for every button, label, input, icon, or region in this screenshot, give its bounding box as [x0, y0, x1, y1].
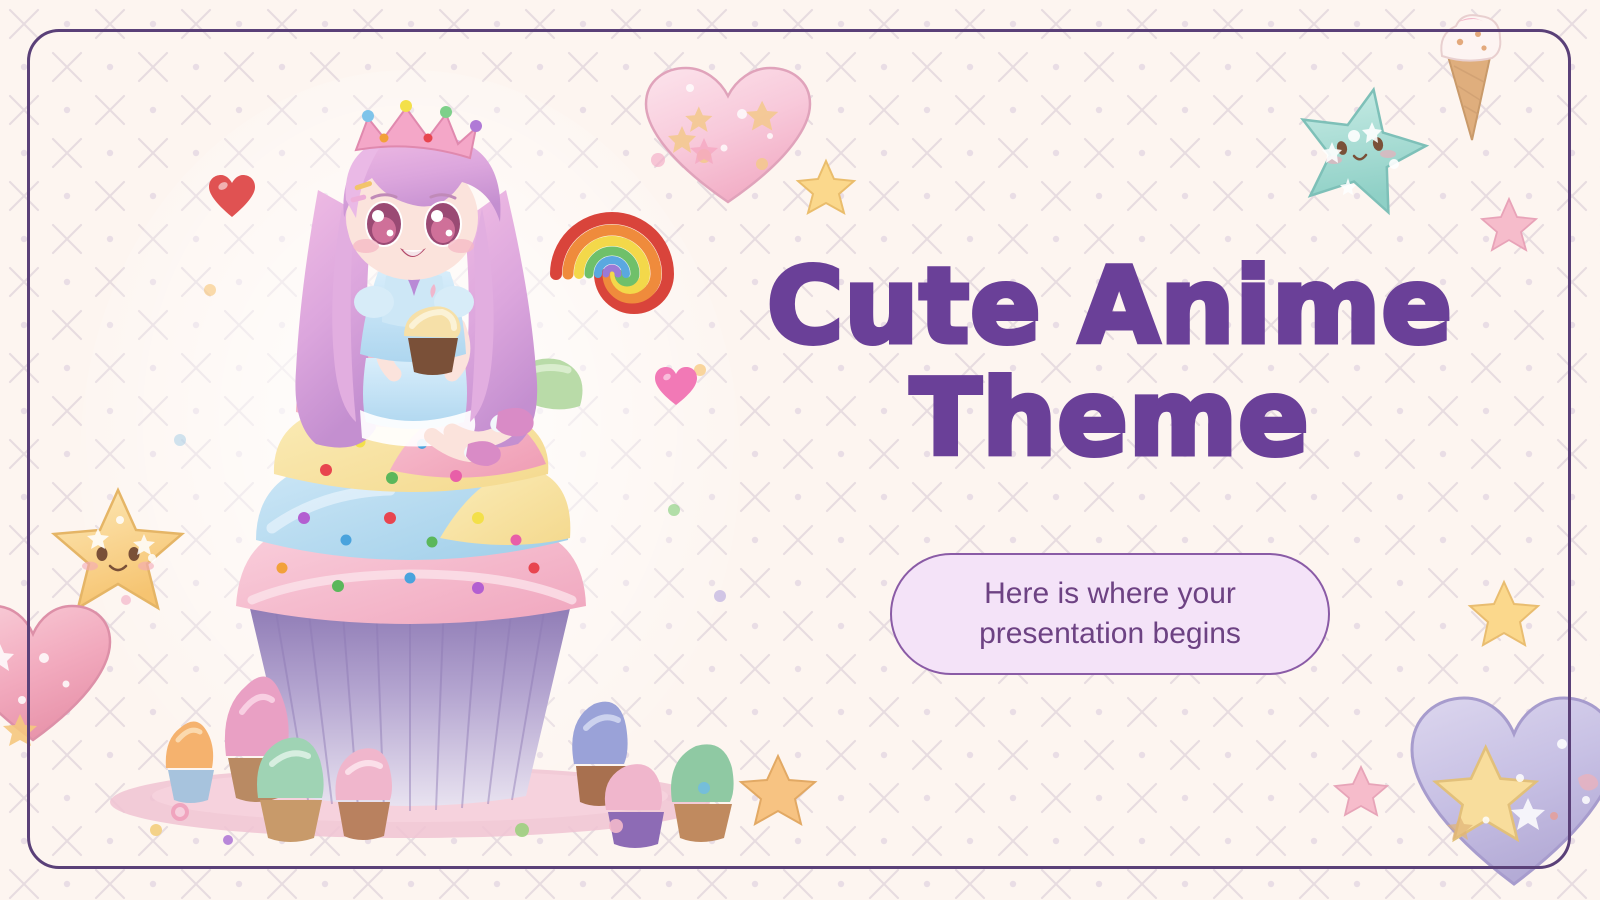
glitter-heart-pink-left-icon — [0, 596, 118, 746]
title-line-1: Cute Anime — [767, 245, 1453, 367]
star-pink-small-icon — [1480, 196, 1538, 252]
star-mint-kawaii-icon — [1292, 82, 1428, 214]
star-orange-bottom-icon — [738, 752, 818, 828]
star-yellow-bottom-right-icon — [1468, 578, 1540, 648]
title-block: Cute Anime Theme Here is where your pres… — [760, 250, 1460, 675]
star-yellow-small-top-icon — [796, 158, 856, 216]
presentation-slide: Cute Anime Theme Here is where your pres… — [0, 0, 1600, 900]
title-line-2: Theme — [910, 357, 1309, 479]
subtitle-text: Here is where your presentation begins — [979, 574, 1241, 653]
heart-magenta-small-icon — [652, 364, 700, 408]
subtitle-line-2: presentation begins — [979, 617, 1241, 650]
page-title: Cute Anime Theme — [767, 250, 1453, 475]
glitter-heart-lavender-icon — [1400, 672, 1600, 900]
subtitle-pill[interactable]: Here is where your presentation begins — [890, 553, 1330, 675]
heart-red-small-icon — [206, 172, 258, 220]
star-pink-bottom-right-icon — [1334, 764, 1388, 816]
rainbow-swirl-icon — [540, 168, 700, 298]
subtitle-line-1: Here is where your — [984, 577, 1236, 610]
ice-cream-cone-icon — [1418, 8, 1528, 148]
